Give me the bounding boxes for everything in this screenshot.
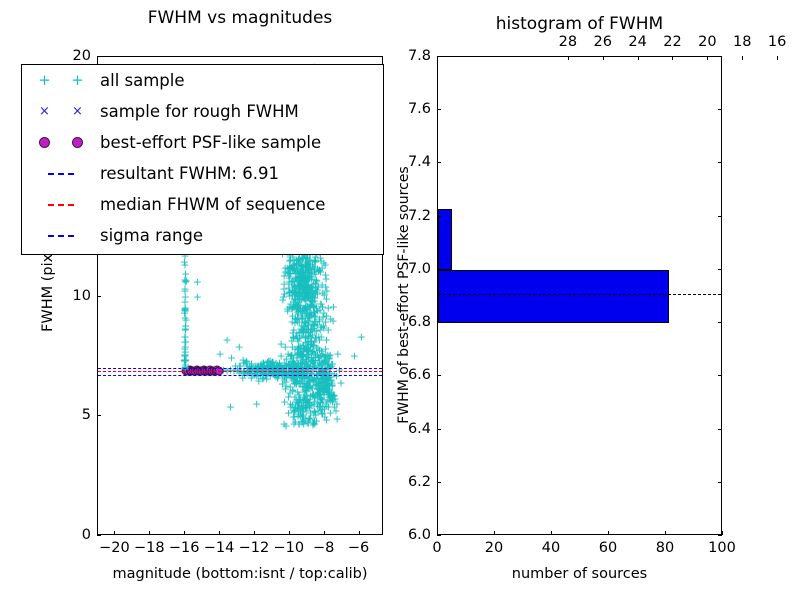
all-sample-point: + [307,376,316,377]
all-sample-point: + [329,306,338,307]
all-sample-point: + [286,257,295,258]
all-sample-point: + [251,365,260,366]
all-sample-point: + [303,403,312,404]
legend-item-2[interactable]: best-effort PSF-like sample [22,127,383,158]
all-sample-point: + [292,319,301,320]
x-tick-label-hist: 20 [485,540,503,556]
all-sample-point: + [281,389,290,390]
all-sample-point: + [181,355,190,356]
all-sample-point: + [293,353,302,354]
all-sample-point: + [300,373,309,374]
all-sample-point: + [279,288,288,289]
x-tick-label-bottom: −14 [204,540,235,556]
all-sample-point: + [310,411,319,412]
all-sample-point: + [301,405,310,406]
all-sample-point: + [288,280,297,281]
legend-item-5[interactable]: sigma range [22,220,383,251]
all-sample-point: + [298,344,307,345]
all-sample-point: + [305,279,314,280]
all-sample-point: + [297,326,306,327]
all-sample-point: + [298,259,307,260]
all-sample-point: + [300,308,309,309]
all-sample-point: + [304,284,313,285]
all-sample-point: + [295,345,304,346]
all-sample-point: + [291,421,300,422]
all-sample-point: + [315,270,324,271]
all-sample-point: + [281,382,290,383]
all-sample-point: + [306,330,315,331]
all-sample-point: + [301,275,310,276]
all-sample-point: + [292,260,301,261]
all-sample-point: + [322,420,331,421]
all-sample-point: + [328,399,337,400]
all-sample-point: + [284,396,293,397]
all-sample-point: + [305,418,314,419]
all-sample-point: + [318,400,327,401]
all-sample-point: + [295,409,304,410]
all-sample-point: + [313,388,322,389]
all-sample-point: + [298,386,307,387]
all-sample-point: + [301,284,310,285]
all-sample-point: + [270,373,279,374]
x-tick-label-hist: 100 [708,540,736,556]
all-sample-point: + [318,406,327,407]
all-sample-point: + [283,308,292,309]
all-sample-point: + [295,287,304,288]
all-sample-point: + [310,312,319,313]
all-sample-point: + [302,348,311,349]
all-sample-point: + [320,389,329,390]
all-sample-point: + [316,261,325,262]
y-tick-mark-hist-right [718,162,722,163]
all-sample-point: + [181,351,190,352]
all-sample-point: + [293,349,302,350]
all-sample-point: + [182,280,191,281]
all-sample-point: + [313,310,322,311]
all-sample-point: + [326,354,335,355]
all-sample-point: + [336,382,345,383]
all-sample-point: + [305,314,314,315]
all-sample-point: + [302,305,311,306]
all-sample-point: + [290,285,299,286]
all-sample-point: + [316,258,325,259]
all-sample-point: + [298,363,307,364]
all-sample-point: + [296,259,305,260]
x-tick-label-hist: 0 [432,540,441,556]
histogram-axes[interactable] [437,56,722,535]
all-sample-point: + [302,329,311,330]
all-sample-point: + [315,319,324,320]
all-sample-point: + [251,372,260,373]
all-sample-point: + [315,389,324,390]
x-tick-mark-bottom [324,531,325,535]
all-sample-point: + [295,347,304,348]
all-sample-point: + [181,325,190,326]
all-sample-point: + [323,364,332,365]
all-sample-point: + [285,267,294,268]
all-sample-point: + [324,378,333,379]
all-sample-point: + [296,275,305,276]
all-sample-point: + [325,384,334,385]
all-sample-point: + [290,417,299,418]
all-sample-point: + [310,377,319,378]
all-sample-point: + [305,269,314,270]
all-sample-point: + [304,402,313,403]
legend-item-3[interactable]: resultant FWHM: 6.91 [22,158,383,189]
y-tick-mark-hist-right [718,216,722,217]
legend-item-label: best-effort PSF-like sample [100,133,321,152]
all-sample-point: + [301,403,310,404]
right-panel-title: histogram of FWHM [437,14,722,34]
all-sample-point: + [302,267,311,268]
all-sample-point: + [311,287,320,288]
all-sample-point: + [298,329,307,330]
all-sample-point: + [308,365,317,366]
all-sample-point: + [296,278,305,279]
all-sample-point: + [301,323,310,324]
all-sample-point: + [305,308,314,309]
all-sample-point: + [310,397,319,398]
all-sample-point: + [304,353,313,354]
all-sample-point: + [291,303,300,304]
all-sample-point: + [329,394,338,395]
all-sample-point: + [311,397,320,398]
all-sample-point: + [309,345,318,346]
all-sample-point: + [302,329,311,330]
all-sample-point: + [293,279,302,280]
all-sample-point: + [301,398,310,399]
all-sample-point: + [290,384,299,385]
all-sample-point: + [285,364,294,365]
all-sample-point: + [302,293,311,294]
all-sample-point: + [303,350,312,351]
all-sample-point: + [297,277,306,278]
all-sample-point: + [304,318,313,319]
all-sample-point: + [298,412,307,413]
all-sample-point: + [301,286,310,287]
all-sample-point: + [293,308,302,309]
all-sample-point: + [308,296,317,297]
y-tick-mark-hist-left [437,429,441,430]
all-sample-point: + [298,289,307,290]
all-sample-point: + [295,296,304,297]
all-sample-point: + [317,379,326,380]
all-sample-point: + [317,373,326,374]
all-sample-point: + [318,380,327,381]
all-sample-point: + [288,347,297,348]
all-sample-point: + [317,326,326,327]
all-sample-point: + [302,290,311,291]
all-sample-point: + [290,270,299,271]
legend-item-1[interactable]: ××sample for rough FWHM [22,96,383,127]
all-sample-point: + [305,399,314,400]
all-sample-point: + [294,355,303,356]
all-sample-point: + [298,380,307,381]
all-sample-point: + [305,290,314,291]
y-tick-label-hist: 6.0 [389,527,431,543]
all-sample-point: + [290,376,299,377]
all-sample-point: + [306,342,315,343]
all-sample-point: + [295,321,304,322]
legend-marker-cross-marker: ×× [22,105,100,118]
all-sample-point: + [181,328,190,329]
all-sample-point: + [296,353,305,354]
all-sample-point: + [322,406,331,407]
all-sample-point: + [287,321,296,322]
all-sample-point: + [313,405,322,406]
all-sample-point: + [306,331,315,332]
all-sample-point: + [315,309,324,310]
all-sample-point: + [302,360,311,361]
all-sample-point: + [290,271,299,272]
y-tick-mark-hist-right [718,269,722,270]
x-tick-mark-hist [551,531,552,535]
all-sample-point: + [292,373,301,374]
all-sample-point: + [305,288,314,289]
all-sample-point: + [313,293,322,294]
all-sample-point: + [289,364,298,365]
all-sample-point: + [296,416,305,417]
y-tick-mark-hist-left [437,269,441,270]
all-sample-point: + [193,282,202,283]
legend[interactable]: ++all sample××sample for rough FWHMbest-… [21,64,384,255]
all-sample-point: + [308,302,317,303]
legend-item-4[interactable]: median FHWM of sequence [22,189,383,220]
all-sample-point: + [299,282,308,283]
all-sample-point: + [294,395,303,396]
all-sample-point: + [295,352,304,353]
all-sample-point: + [305,287,314,288]
all-sample-point: + [299,424,308,425]
all-sample-point: + [303,402,312,403]
all-sample-point: + [309,293,318,294]
all-sample-point: + [304,277,313,278]
all-sample-point: + [291,279,300,280]
all-sample-point: + [308,302,317,303]
all-sample-point: + [302,351,311,352]
histogram-bar[interactable] [438,270,669,323]
all-sample-point: + [288,404,297,405]
all-sample-point: + [286,386,295,387]
histogram-bar[interactable] [438,209,452,270]
all-sample-point: + [291,293,300,294]
all-sample-point: + [181,364,190,365]
all-sample-point: + [327,398,336,399]
all-sample-point: + [314,386,323,387]
all-sample-point: + [297,380,306,381]
line-icon [48,173,74,175]
all-sample-point: + [299,392,308,393]
all-sample-point: + [264,361,273,362]
all-sample-point: + [316,355,325,356]
all-sample-point: + [299,307,308,308]
all-sample-point: + [235,346,244,347]
all-sample-point: + [300,287,309,288]
all-sample-point: + [180,359,189,360]
all-sample-point: + [307,373,316,374]
x-tick-mark-hist [722,531,723,535]
all-sample-point: + [181,337,190,338]
all-sample-point: + [303,346,312,347]
all-sample-point: + [303,263,312,264]
all-sample-point: + [292,309,301,310]
all-sample-point: + [302,282,311,283]
all-sample-point: + [304,298,313,299]
all-sample-point: + [302,280,311,281]
all-sample-point: + [300,321,309,322]
all-sample-point: + [324,358,333,359]
all-sample-point: + [181,282,190,283]
all-sample-point: + [299,330,308,331]
all-sample-point: + [303,273,312,274]
y-tick-label-hist: 6.8 [389,314,431,330]
y-tick-mark-hist-left [437,162,441,163]
all-sample-point: + [297,265,306,266]
all-sample-point: + [297,296,306,297]
all-sample-point: + [297,290,306,291]
all-sample-point: + [322,390,331,391]
all-sample-point: + [350,356,359,357]
all-sample-point: + [243,373,252,374]
all-sample-point: + [301,349,310,350]
all-sample-point: + [281,347,290,348]
all-sample-point: + [301,306,310,307]
all-sample-point: + [310,381,319,382]
all-sample-point: + [305,321,314,322]
all-sample-point: + [306,299,315,300]
all-sample-point: + [291,380,300,381]
all-sample-point: + [298,331,307,332]
all-sample-point: + [222,339,231,340]
figure-canvas: FWHM vs magnitudes +++++++++++++++++++++… [0,0,800,600]
all-sample-point: + [239,363,248,364]
all-sample-point: + [293,314,302,315]
all-sample-point: + [289,266,298,267]
all-sample-point: + [325,355,334,356]
y-tick-mark-hist-right [718,109,722,110]
all-sample-point: + [302,384,311,385]
all-sample-point: + [310,342,319,343]
all-sample-point: + [303,320,312,321]
all-sample-point: + [297,421,306,422]
all-sample-point: + [317,303,326,304]
all-sample-point: + [324,389,333,390]
all-sample-point: + [293,273,302,274]
all-sample-point: + [193,296,202,297]
all-sample-point: + [302,294,311,295]
all-sample-point: + [293,364,302,365]
all-sample-point: + [308,387,317,388]
all-sample-point: + [303,354,312,355]
all-sample-point: + [294,384,303,385]
histogram-median-line [438,294,721,295]
all-sample-point: + [296,270,305,271]
all-sample-point: + [288,315,297,316]
all-sample-point: + [304,417,313,418]
all-sample-point: + [303,423,312,424]
all-sample-point: + [302,298,311,299]
all-sample-point: + [307,277,316,278]
all-sample-point: + [314,382,323,383]
all-sample-point: + [295,402,304,403]
all-sample-point: + [320,381,329,382]
x-tick-label-top: 18 [733,34,751,50]
all-sample-point: + [305,317,314,318]
all-sample-point: + [302,395,311,396]
all-sample-point: + [268,363,277,364]
all-sample-point: + [288,264,297,265]
all-sample-point: + [180,308,189,309]
all-sample-point: + [314,287,323,288]
all-sample-point: + [301,278,310,279]
all-sample-point: + [298,421,307,422]
all-sample-point: + [293,261,302,262]
all-sample-point: + [290,285,299,286]
all-sample-point: + [287,355,296,356]
all-sample-point: + [301,389,310,390]
all-sample-point: + [295,282,304,283]
all-sample-point: + [321,349,330,350]
y-tick-mark-hist-right [718,429,722,430]
x-tick-label-bottom: −10 [274,540,305,556]
all-sample-point: + [301,272,310,273]
all-sample-point: + [301,262,310,263]
all-sample-point: + [310,315,319,316]
all-sample-point: + [301,338,310,339]
all-sample-point: + [318,306,327,307]
all-sample-point: + [283,310,292,311]
all-sample-point: + [304,358,313,359]
all-sample-point: + [296,284,305,285]
all-sample-point: + [300,289,309,290]
all-sample-point: + [279,373,288,374]
all-sample-point: + [181,359,190,360]
all-sample-point: + [299,350,308,351]
all-sample-point: + [331,399,340,400]
all-sample-point: + [314,271,323,272]
all-sample-point: + [281,386,290,387]
all-sample-point: + [257,373,266,374]
all-sample-point: + [290,408,299,409]
all-sample-point: + [288,292,297,293]
all-sample-point: + [288,290,297,291]
all-sample-point: + [301,391,310,392]
all-sample-point: + [310,331,319,332]
all-sample-point: + [303,364,312,365]
all-sample-point: + [308,265,317,266]
all-sample-point: + [316,363,325,364]
all-sample-point: + [302,376,311,377]
all-sample-point: + [297,300,306,301]
y-tick-mark-left [97,296,101,297]
x-tick-mark-bottom [289,531,290,535]
cross-icon: × [39,105,50,118]
all-sample-point: + [304,332,313,333]
all-sample-point: + [310,402,319,403]
all-sample-point: + [306,373,315,374]
right-yaxis-label: FWHM of best-effort PSF-like sources [396,60,412,530]
all-sample-point: + [260,365,269,366]
all-sample-point: + [302,366,311,367]
all-sample-point: + [292,262,301,263]
all-sample-point: + [309,353,318,354]
legend-item-0[interactable]: ++all sample [22,65,383,96]
all-sample-point: + [278,384,287,385]
all-sample-point: + [306,315,315,316]
x-tick-mark-bottom [219,531,220,535]
all-sample-point: + [296,287,305,288]
all-sample-point: + [311,262,320,263]
